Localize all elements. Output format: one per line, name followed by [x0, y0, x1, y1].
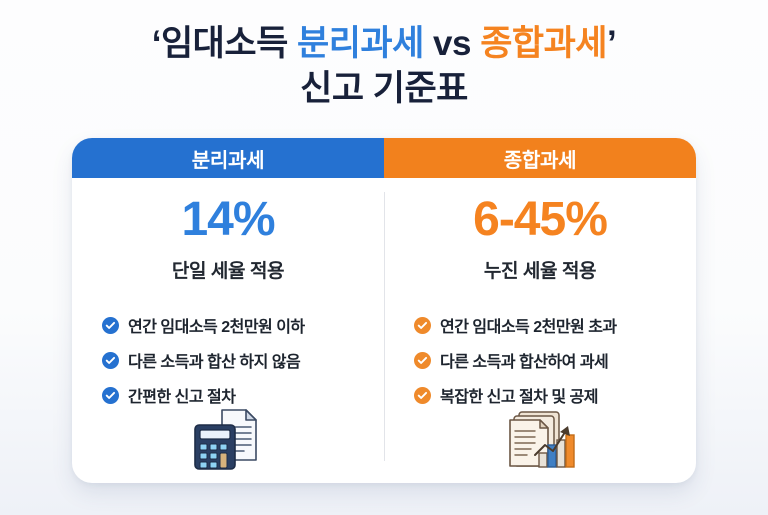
title-segment-separate-tax: 분리과세 — [297, 24, 424, 63]
check-circle-icon — [102, 387, 119, 404]
title-close-quote: ’ — [607, 24, 616, 63]
title-line-2: 신고 기준표 — [0, 67, 768, 112]
list-item: 다른 소득과 합산하여 과세 — [414, 348, 696, 372]
list-item: 간편한 신고 절차 — [102, 383, 384, 407]
column-header-separate-tax: 분리과세 — [72, 138, 384, 178]
rate-value-separate-tax: 14% — [181, 196, 274, 244]
check-circle-icon — [102, 317, 119, 334]
list-item: 연간 임대소득 2천만원 초과 — [414, 313, 696, 337]
title-segment-rental-income: 임대소득 — [161, 24, 297, 63]
column-divider — [384, 192, 385, 461]
list-item-label: 간편한 신고 절차 — [128, 383, 235, 407]
check-circle-icon — [414, 387, 431, 404]
title-line-1: ‘임대소득 분리과세 vs 종합과세’ — [0, 22, 768, 67]
list-item: 연간 임대소득 2천만원 이하 — [102, 313, 384, 337]
list-item-label: 다른 소득과 합산 하지 않음 — [128, 348, 300, 372]
rate-caption-separate-tax: 단일 세율 적용 — [172, 256, 284, 283]
bullet-list-comprehensive-tax: 연간 임대소득 2천만원 초과 다른 소득과 합산하여 과세 복잡한 신고 절차… — [384, 313, 696, 407]
check-circle-icon — [414, 317, 431, 334]
comparison-card: 분리과세 종합과세 14% 단일 세율 적용 연간 임대소득 2천만원 이하 — [72, 138, 696, 483]
column-header-comprehensive-tax: 종합과세 — [384, 138, 696, 178]
column-separate-tax: 14% 단일 세율 적용 연간 임대소득 2천만원 이하 다른 소득과 합산 하… — [72, 178, 384, 483]
title-segment-vs: vs — [424, 24, 480, 63]
list-item-label: 연간 임대소득 2천만원 이하 — [128, 313, 305, 337]
column-comprehensive-tax: 6-45% 누진 세율 적용 연간 임대소득 2천만원 초과 다른 소득과 합산… — [384, 178, 696, 483]
check-circle-icon — [102, 352, 119, 369]
title-open-quote: ‘ — [152, 24, 161, 63]
card-header-row: 분리과세 종합과세 — [72, 138, 696, 178]
documents-bar-chart-icon — [501, 407, 579, 473]
bullet-list-separate-tax: 연간 임대소득 2천만원 이하 다른 소득과 합산 하지 않음 간편한 신고 절… — [72, 313, 384, 407]
page-title: ‘임대소득 분리과세 vs 종합과세’ 신고 기준표 — [0, 22, 768, 112]
list-item: 다른 소득과 합산 하지 않음 — [102, 348, 384, 372]
card-body-row: 14% 단일 세율 적용 연간 임대소득 2천만원 이하 다른 소득과 합산 하… — [72, 178, 696, 483]
rate-value-comprehensive-tax: 6-45% — [473, 196, 607, 244]
check-circle-icon — [414, 352, 431, 369]
rate-caption-comprehensive-tax: 누진 세율 적용 — [484, 256, 596, 283]
list-item-label: 복잡한 신고 절차 및 공제 — [440, 383, 598, 407]
title-segment-comprehensive-tax: 종합과세 — [480, 24, 607, 63]
list-item: 복잡한 신고 절차 및 공제 — [414, 383, 696, 407]
list-item-label: 연간 임대소득 2천만원 초과 — [440, 313, 617, 337]
list-item-label: 다른 소득과 합산하여 과세 — [440, 348, 608, 372]
calculator-document-icon — [189, 407, 267, 473]
